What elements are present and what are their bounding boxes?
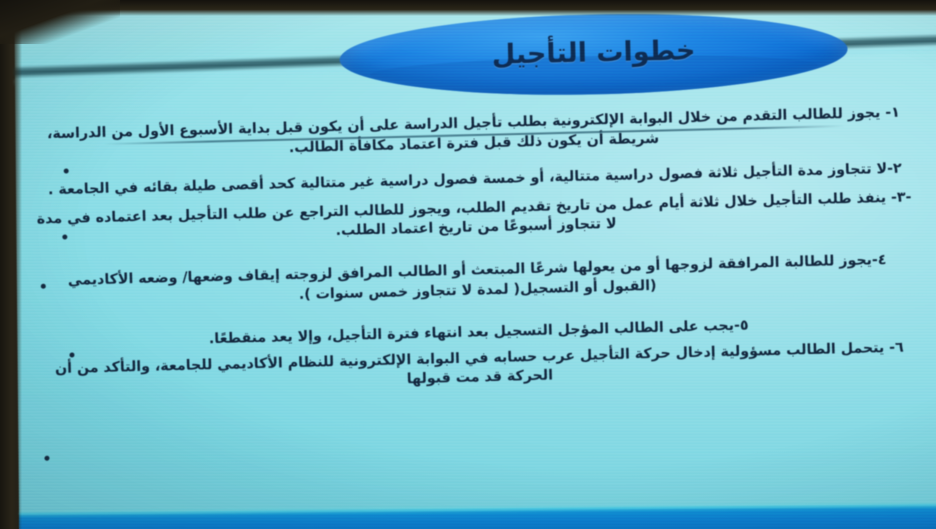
footer-band — [19, 504, 936, 529]
trailing-dot-mark — [69, 352, 74, 357]
title-ellipse-banner: خطوات التأجيل — [339, 9, 849, 100]
projected-slide-photo: خطوات التأجيل ١- يجوز للطالب التقدم من خ… — [0, 0, 936, 529]
slide-surface: خطوات التأجيل ١- يجوز للطالب التقدم من خ… — [14, 0, 936, 529]
slide-body: ١- يجوز للطالب التقدم من خلال البوابة ال… — [37, 103, 916, 405]
trailing-dot-mark — [64, 168, 69, 173]
trailing-dot-mark — [44, 456, 49, 461]
trailing-dot-mark — [62, 234, 67, 239]
list-item: ٤-يجوز للطالبة المرافقة لزوجها أو من يعو… — [41, 250, 914, 311]
list-item: ١- يجوز للطالب التقدم من خلال البوابة ال… — [37, 103, 910, 164]
page-title: خطوات التأجيل — [491, 35, 695, 70]
trailing-dot-mark — [41, 284, 46, 289]
